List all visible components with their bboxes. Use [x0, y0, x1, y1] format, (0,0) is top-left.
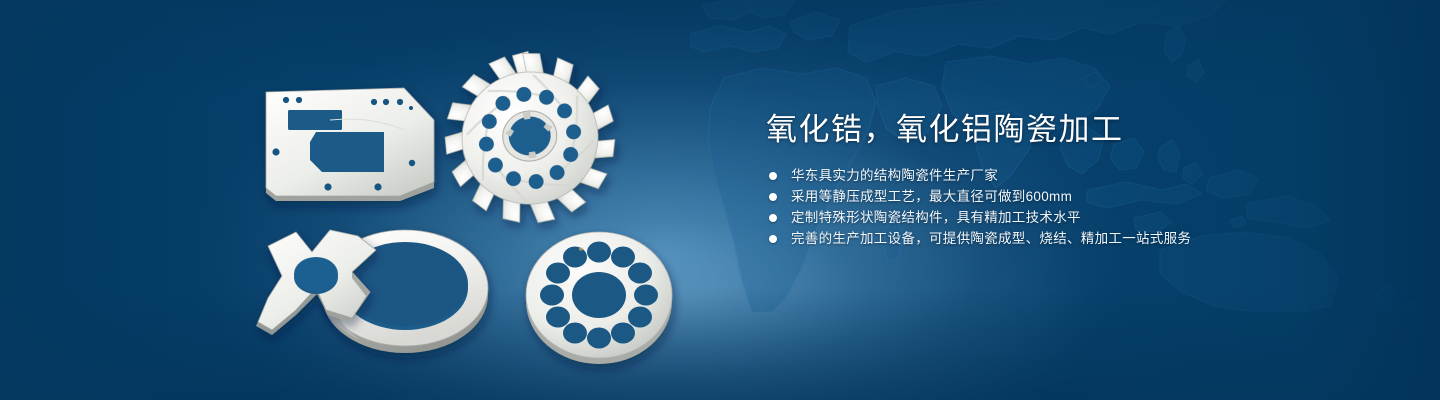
- feature-item-2: 采用等静压成型工艺，最大直径可做到600mm: [769, 189, 1384, 205]
- feature-item-1-label: 华东具实力的结构陶瓷件生产厂家: [791, 168, 998, 183]
- bullet-icon: [769, 214, 777, 222]
- banner-copy: 氧化锆，氧化铝陶瓷加工 华东具实力的结构陶瓷件生产厂家 采用等静压成型工艺，最大…: [764, 110, 1384, 252]
- bullet-icon: [769, 172, 777, 180]
- feature-item-2-label: 采用等静压成型工艺，最大直径可做到600mm: [791, 189, 1072, 204]
- feature-item-1: 华东具实力的结构陶瓷件生产厂家: [769, 168, 1384, 184]
- feature-item-3: 定制特殊形状陶瓷结构件，具有精加工技术水平: [769, 210, 1384, 226]
- feature-item-4-label: 完善的生产加工设备，可提供陶瓷成型、烧结、精加工一站式服务: [791, 231, 1191, 246]
- feature-list: 华东具实力的结构陶瓷件生产厂家 采用等静压成型工艺，最大直径可做到600mm 定…: [764, 168, 1384, 247]
- hero-banner: 氧化锆，氧化铝陶瓷加工 华东具实力的结构陶瓷件生产厂家 采用等静压成型工艺，最大…: [0, 0, 1440, 400]
- page-title: 氧化锆，氧化铝陶瓷加工: [766, 110, 1384, 150]
- bullet-icon: [769, 235, 777, 243]
- bullet-icon: [769, 193, 777, 201]
- feature-item-3-label: 定制特殊形状陶瓷结构件，具有精加工技术水平: [791, 210, 1081, 225]
- feature-item-4: 完善的生产加工设备，可提供陶瓷成型、烧结、精加工一站式服务: [769, 231, 1384, 247]
